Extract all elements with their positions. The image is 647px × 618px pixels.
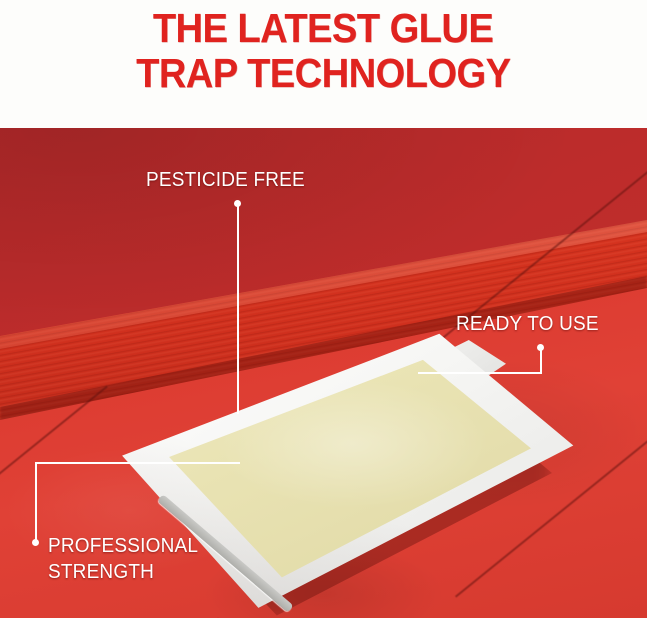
headline-banner: THE LATEST GLUE TRAP TECHNOLOGY <box>0 0 647 128</box>
callout-label-professional-strength-line2: STRENGTH <box>48 560 154 585</box>
callout-leader-ready-to-use-vertical <box>540 348 542 374</box>
callout-leader-ready-to-use-horizontal <box>418 372 541 374</box>
product-photo-scene: PESTICIDE FREE READY TO USE PROFESSIONAL… <box>0 128 647 618</box>
callout-label-ready-to-use: READY TO USE <box>456 312 599 337</box>
headline-line-2: TRAP TECHNOLOGY <box>136 51 510 96</box>
callout-label-professional-strength-line1: PROFESSIONAL <box>48 534 198 559</box>
callout-dot-professional-strength <box>32 539 39 546</box>
callout-leader-pesticide-free <box>237 204 239 414</box>
product-marketing-image: THE LATEST GLUE TRAP TECHNOLOGY PESTICID… <box>0 0 647 618</box>
callout-leader-professional-strength-horizontal <box>35 462 240 464</box>
callout-leader-professional-strength-vertical <box>35 462 37 542</box>
callout-label-pesticide-free: PESTICIDE FREE <box>146 168 305 193</box>
headline-line-1: THE LATEST GLUE <box>153 6 493 51</box>
